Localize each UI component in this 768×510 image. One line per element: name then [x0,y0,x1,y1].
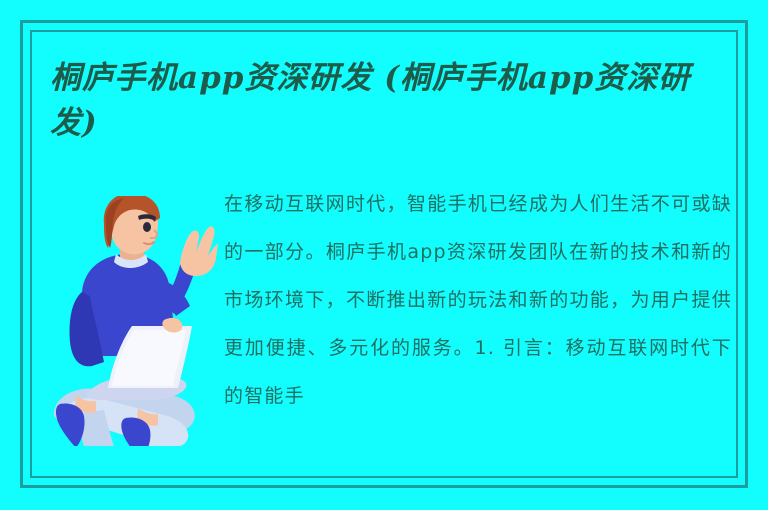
sock-left [56,404,85,447]
poster-canvas: 桐庐手机app资深研发 (桐庐手机app资深研发) [0,0,768,510]
person-with-laptop-illustration [46,196,218,446]
hand-raised [180,226,218,276]
page-title: 桐庐手机app资深研发 (桐庐手机app资深研发) [50,56,718,146]
article-body-text: 在移动互联网时代，智能手机已经成为人们生活不可或缺的一部分。桐庐手机app资深研… [224,180,732,420]
eye [143,222,151,232]
